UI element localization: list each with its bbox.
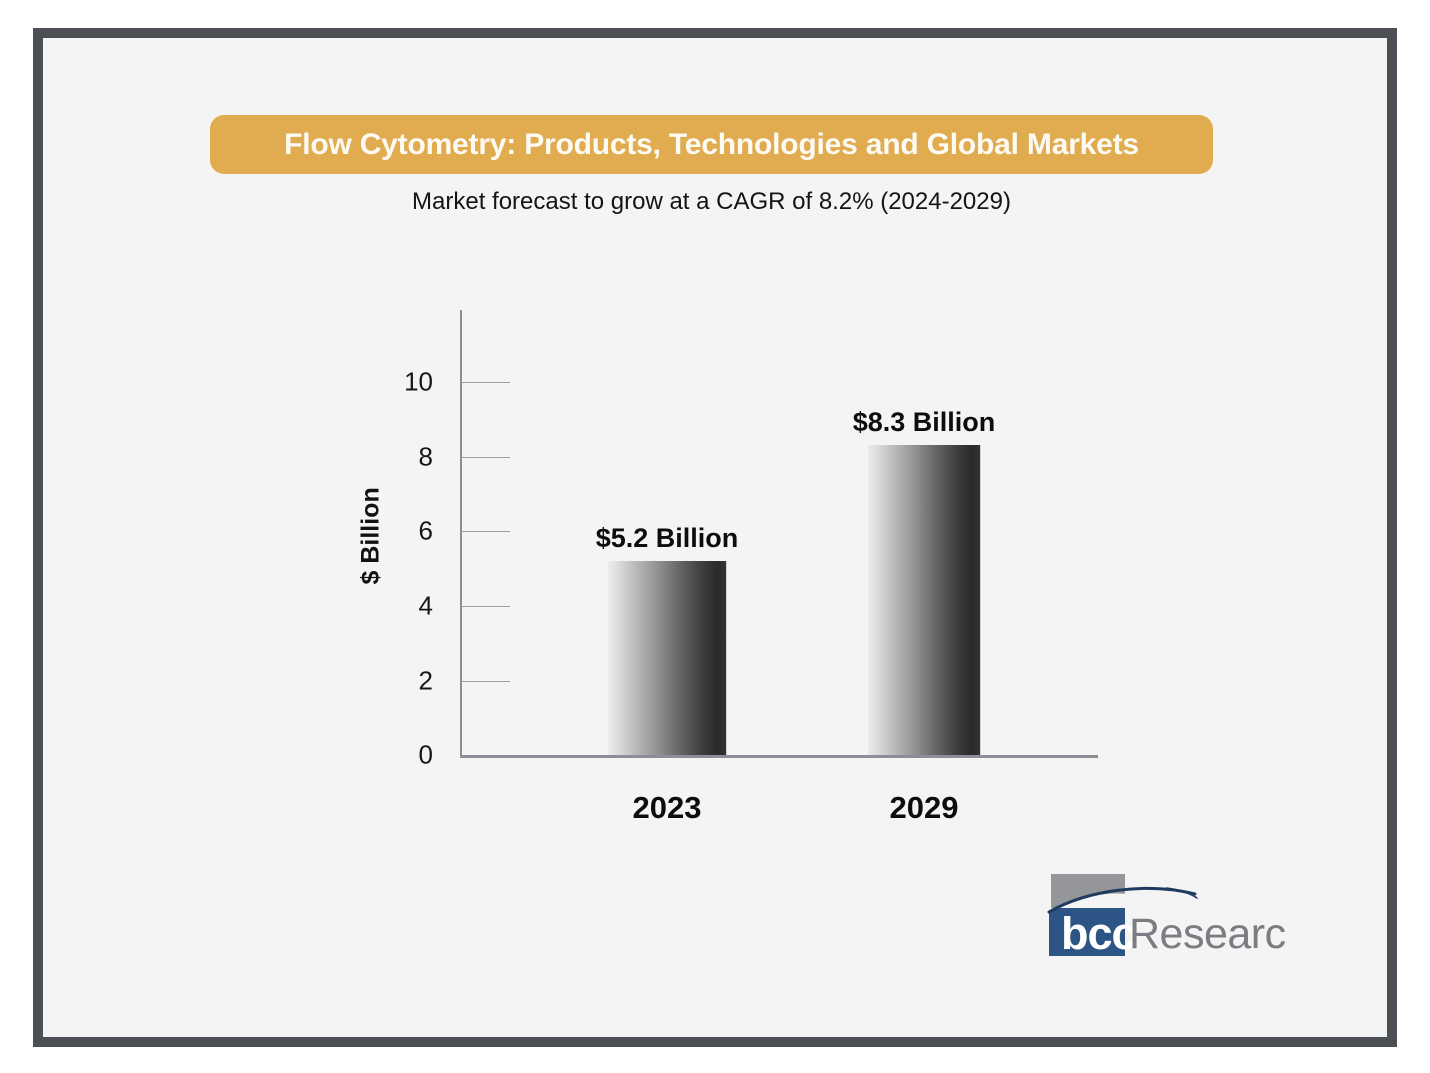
bar-2023 xyxy=(608,561,727,755)
bar-value-label-2023: $5.2 Billion xyxy=(596,523,739,554)
category-label-2029: 2029 xyxy=(890,790,959,826)
bar-2029 xyxy=(868,445,981,755)
bar-value-label-2029: $8.3 Billion xyxy=(853,407,996,438)
y-tick-label-2: 2 xyxy=(373,666,433,697)
bcc-research-logo: bcc Research xyxy=(1047,872,1287,960)
gridline-10 xyxy=(462,382,510,383)
y-tick-label-8: 8 xyxy=(373,442,433,473)
logo-research-text: Research xyxy=(1129,910,1287,958)
y-tick-label-0: 0 xyxy=(373,740,433,771)
logo-bcc-text: bcc xyxy=(1061,908,1136,959)
y-tick-label-4: 4 xyxy=(373,591,433,622)
x-axis-line xyxy=(460,755,1098,758)
y-axis-line xyxy=(460,310,462,757)
slide-frame: Flow Cytometry: Products, Technologies a… xyxy=(33,28,1397,1047)
y-axis-title: $ Billion xyxy=(357,545,386,585)
gridline-8 xyxy=(462,457,510,458)
y-tick-label-10: 10 xyxy=(373,367,433,398)
slide-canvas: Flow Cytometry: Products, Technologies a… xyxy=(43,38,1387,1037)
gridline-4 xyxy=(462,606,510,607)
category-label-2023: 2023 xyxy=(633,790,702,826)
gridline-2 xyxy=(462,681,510,682)
gridline-6 xyxy=(462,531,510,532)
